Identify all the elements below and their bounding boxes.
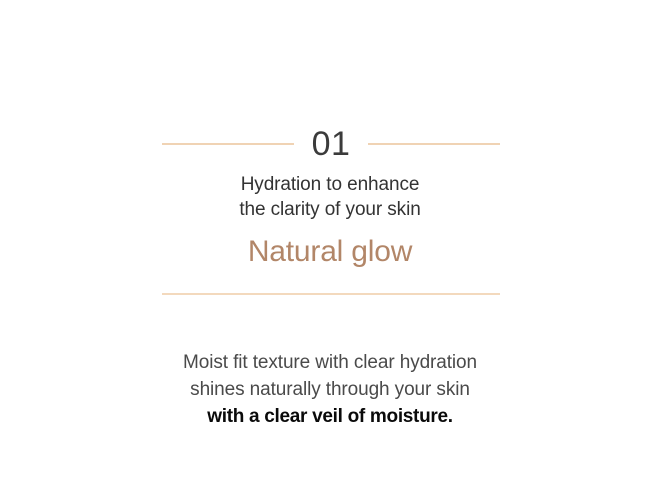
subheadline-line-2: the clarity of your skin <box>130 197 530 222</box>
headline-title: Natural glow <box>130 237 530 267</box>
description-block: Moist fit texture with clear hydration s… <box>80 349 580 430</box>
description-line-3: with a clear veil of moisture. <box>80 403 580 430</box>
promo-panel: 01 Hydration to enhance the clarity of y… <box>0 0 660 487</box>
description-line-2: shines naturally through your skin <box>80 376 580 403</box>
section-divider <box>162 293 500 295</box>
decorative-rule-right <box>368 143 500 145</box>
step-number: 01 <box>312 127 351 161</box>
headline-block: Hydration to enhance the clarity of your… <box>130 172 530 267</box>
subheadline-line-1: Hydration to enhance <box>130 172 530 197</box>
decorative-rule-left <box>162 143 294 145</box>
description-line-1: Moist fit texture with clear hydration <box>80 349 580 376</box>
step-number-row: 01 <box>162 122 500 166</box>
